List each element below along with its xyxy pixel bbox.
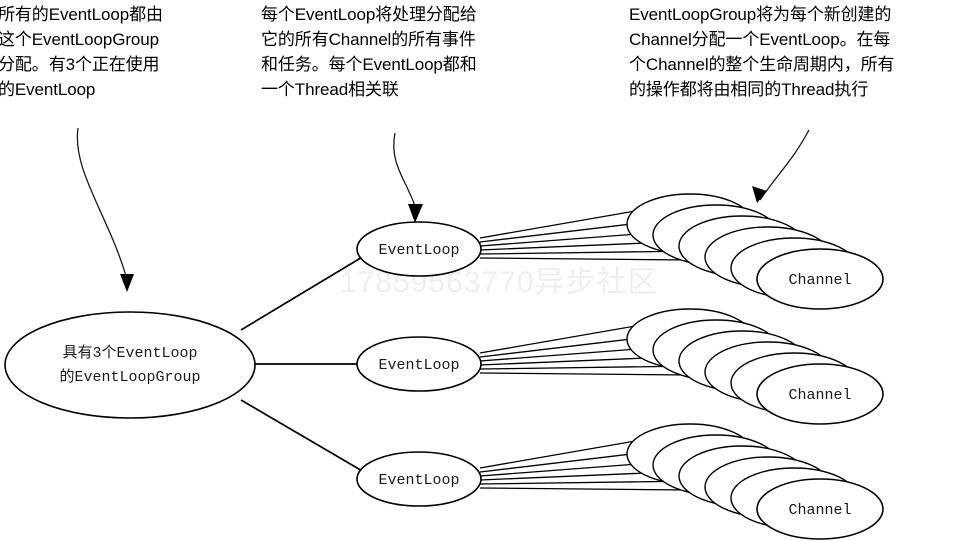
channel-label: Channel xyxy=(788,502,851,519)
eventloopgroup-label-line1: 具有3个EventLoop xyxy=(62,344,197,362)
channel-label: Channel xyxy=(788,272,851,289)
arrowhead-icon xyxy=(408,204,423,223)
eventloop-label: EventLoop xyxy=(378,357,459,374)
arrow-to-eventloopgroup xyxy=(77,128,134,292)
eventloop-label: EventLoop xyxy=(378,472,459,489)
link-group-eventloop-3 xyxy=(241,400,364,472)
arrow-to-eventloop xyxy=(394,133,423,223)
channel-stack-3: Channel xyxy=(627,424,883,539)
netty-eventloop-diagram: 所有的EventLoop都由 这个EventLoopGroup 分配。有3个正在… xyxy=(0,0,972,541)
eventloop-node-2: EventLoop xyxy=(357,337,481,391)
channel-stack-1: Channel xyxy=(627,194,883,309)
eventloopgroup-ellipse xyxy=(5,312,255,418)
annotation-eventloop: 每个EventLoop将处理分配给 它的所有Channel的所有事件 和任务。每… xyxy=(261,2,561,102)
arrowhead-icon xyxy=(120,274,134,292)
arrowhead-icon xyxy=(752,186,767,203)
eventloop-label: EventLoop xyxy=(378,242,459,259)
annotation-channel: EventLoopGroup将为每个新创建的 Channel分配一个EventL… xyxy=(629,2,972,102)
channel-label: Channel xyxy=(788,387,851,404)
eventloop-node-3: EventLoop xyxy=(357,452,481,506)
eventloop-node-1: EventLoop xyxy=(357,222,481,276)
channel-stack-2: Channel xyxy=(627,309,883,424)
annotation-eventloopgroup: 所有的EventLoop都由 这个EventLoopGroup 分配。有3个正在… xyxy=(0,2,248,102)
eventloopgroup-node: 具有3个EventLoop 的EventLoopGroup xyxy=(5,312,255,418)
arrow-to-channel xyxy=(752,130,809,203)
eventloopgroup-label-line2: 的EventLoopGroup xyxy=(59,368,200,386)
